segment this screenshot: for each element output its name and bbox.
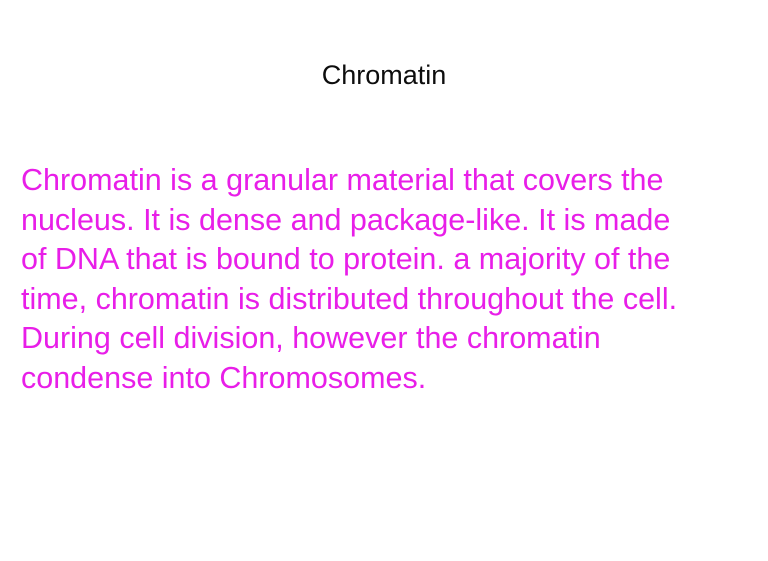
body-line: condense into Chromosomes. [21, 359, 751, 399]
body-line: Chromatin is a granular material that co… [21, 161, 751, 201]
slide-canvas: Chromatin Chromatin is a granular materi… [0, 0, 768, 561]
body-line: During cell division, however the chroma… [21, 319, 751, 359]
body-line: nucleus. It is dense and package-like. I… [21, 201, 751, 241]
page-title: Chromatin [0, 59, 768, 92]
body-line: time, chromatin is distributed throughou… [21, 280, 751, 320]
slide-body-text: Chromatin is a granular material that co… [21, 161, 751, 398]
body-line: of DNA that is bound to protein. a major… [21, 240, 751, 280]
